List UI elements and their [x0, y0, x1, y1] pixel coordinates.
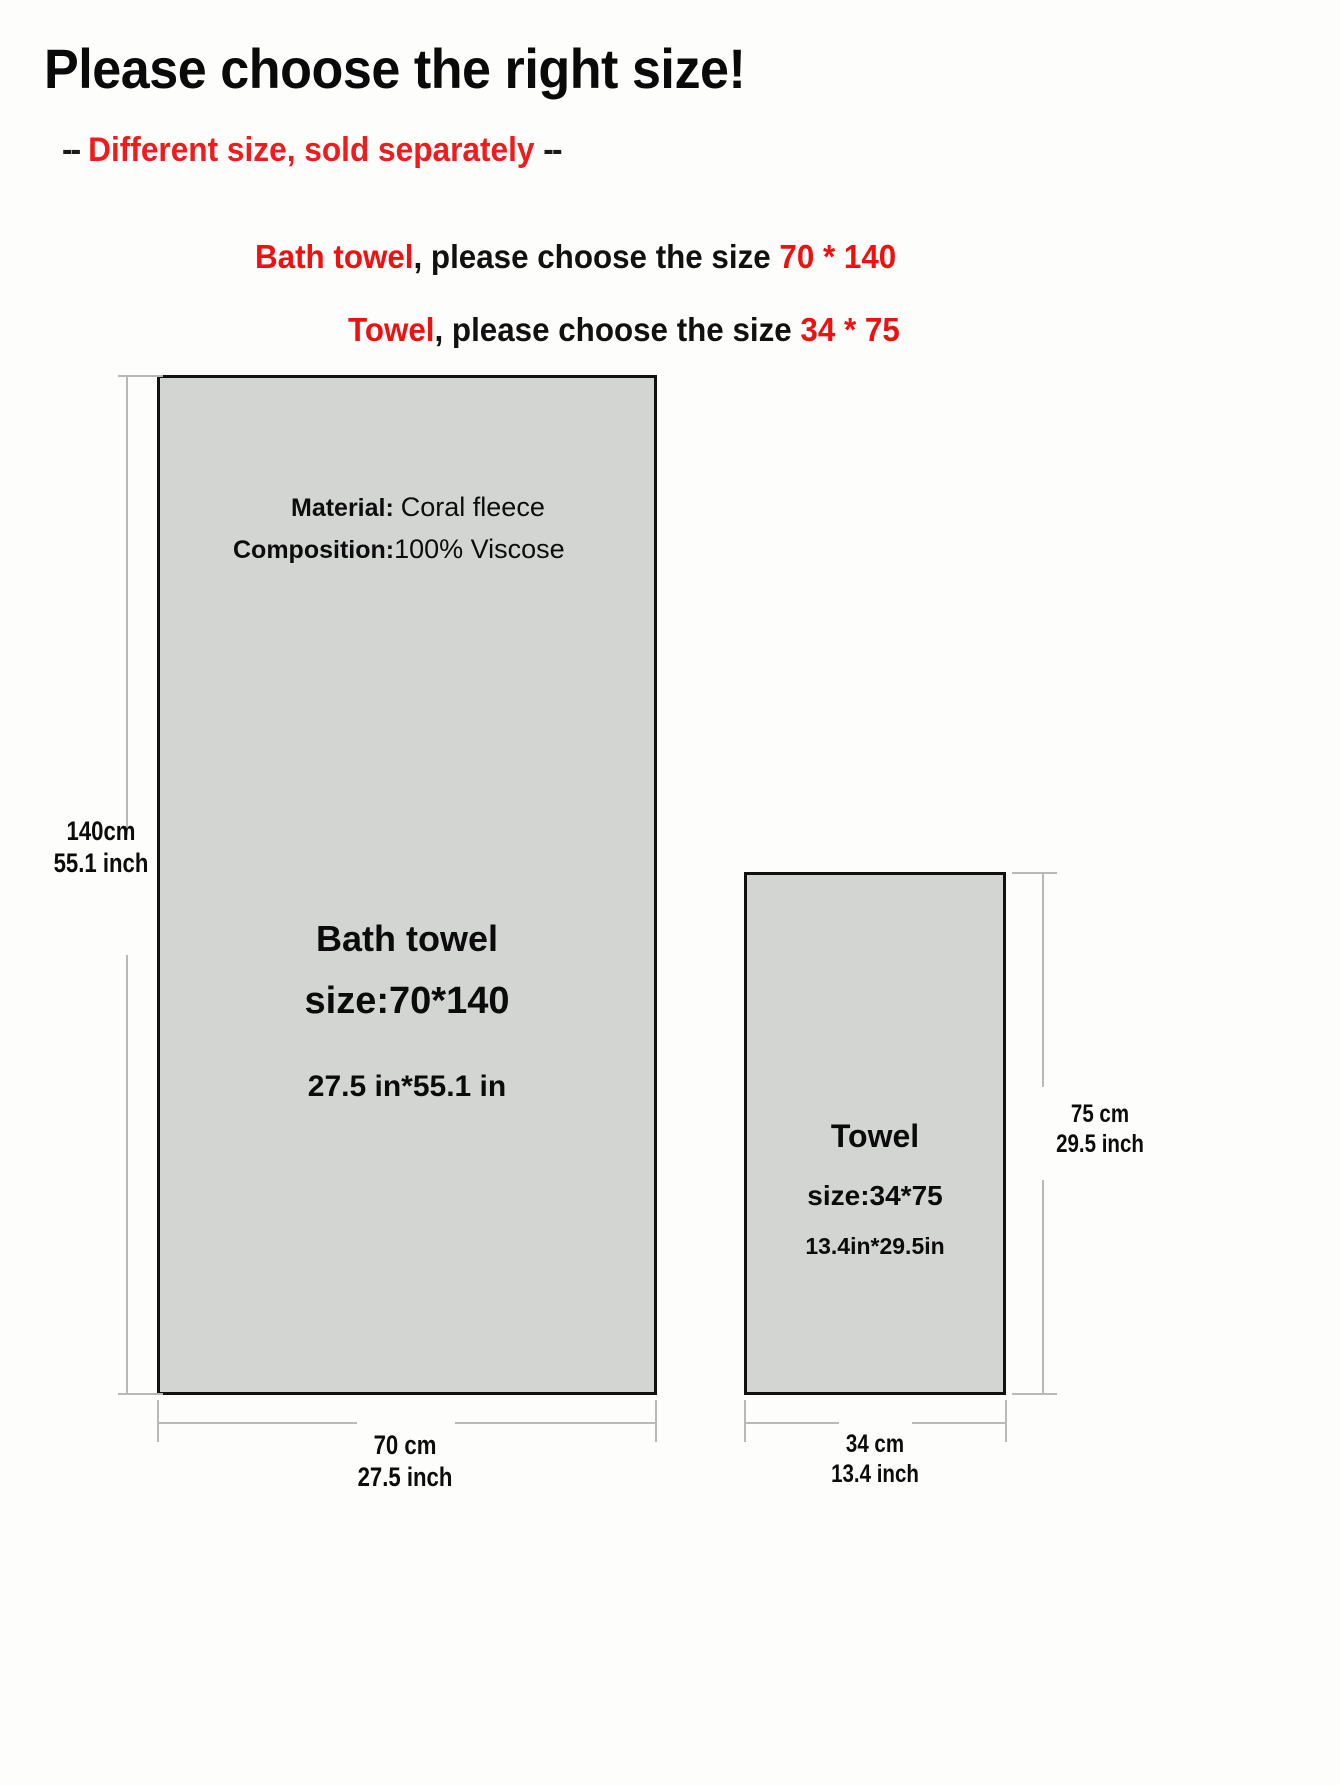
towel-width-dimension: 34 cm 13.4 inch [814, 1430, 937, 1489]
towel-height-line-lower [1042, 1180, 1044, 1395]
composition-spec: Composition:100% Viscose [233, 534, 565, 565]
size-chart-page: Please choose the right size! -- Differe… [0, 0, 1340, 1785]
instruction-product-name: Bath towel [255, 238, 414, 275]
towel-name: Towel [744, 1118, 1006, 1155]
material-value: Coral fleece [401, 492, 545, 522]
bath-width-tick-right [655, 1400, 657, 1442]
towel-height-inch: 29.5 inch [1026, 1130, 1174, 1160]
bath-height-cm: 140cm [40, 816, 163, 848]
material-label: Material: [291, 494, 394, 522]
bath-height-dimension: 140cm 55.1 inch [40, 816, 163, 880]
towel-width-line-left [744, 1422, 839, 1424]
bath-width-line-left [157, 1422, 357, 1424]
bath-towel-name: Bath towel [157, 918, 657, 960]
towel-height-tick-bottom [1012, 1393, 1057, 1395]
subtitle-banner: -- Different size, sold separately -- [62, 131, 561, 170]
instruction-towel: Towel, please choose the size 34 * 75 [348, 311, 900, 349]
subtitle-dash-right: -- [543, 131, 560, 169]
towel-size-cm: size:34*75 [744, 1180, 1006, 1212]
towel-height-line-upper [1042, 872, 1044, 1087]
bath-height-tick-top [118, 375, 163, 377]
towel-width-inch: 13.4 inch [814, 1460, 937, 1490]
instruction-size-value: 70 * 140 [779, 238, 896, 275]
bath-width-tick-left [157, 1400, 159, 1442]
bath-width-line-right [455, 1422, 657, 1424]
towel-width-line-right [912, 1422, 1007, 1424]
composition-value: 100% Viscose [394, 534, 565, 564]
towel-height-cm: 75 cm [1026, 1100, 1174, 1130]
material-spec: Material: Coral fleece [291, 492, 545, 523]
bath-width-inch: 27.5 inch [344, 1462, 467, 1494]
bath-towel-size-cm: size:70*140 [157, 980, 657, 1023]
subtitle-text: Different size, sold separately [88, 131, 534, 169]
towel-size-inch: 13.4in*29.5in [744, 1233, 1006, 1260]
instruction-product-name: Towel [348, 311, 435, 348]
page-title: Please choose the right size! [44, 36, 745, 101]
towel-width-tick-right [1005, 1400, 1007, 1442]
towel-height-tick-top [1012, 872, 1057, 874]
bath-height-tick-bottom [118, 1393, 163, 1395]
bath-height-line-upper [126, 375, 128, 835]
composition-label: Composition: [233, 536, 394, 564]
instruction-size-value: 34 * 75 [800, 311, 899, 348]
bath-width-dimension: 70 cm 27.5 inch [344, 1430, 467, 1494]
towel-width-tick-left [744, 1400, 746, 1442]
subtitle-dash-left: -- [62, 131, 79, 169]
towel-width-cm: 34 cm [814, 1430, 937, 1460]
instruction-bath-towel: Bath towel, please choose the size 70 * … [255, 238, 896, 276]
bath-towel-shape [157, 375, 657, 1395]
bath-height-inch: 55.1 inch [40, 848, 163, 880]
instruction-middle-text: , please choose the size [435, 311, 801, 348]
bath-towel-size-inch: 27.5 in*55.1 in [157, 1070, 657, 1104]
towel-height-dimension: 75 cm 29.5 inch [1026, 1100, 1174, 1159]
bath-height-line-lower [126, 955, 128, 1395]
instruction-middle-text: , please choose the size [414, 238, 780, 275]
bath-width-cm: 70 cm [344, 1430, 467, 1462]
